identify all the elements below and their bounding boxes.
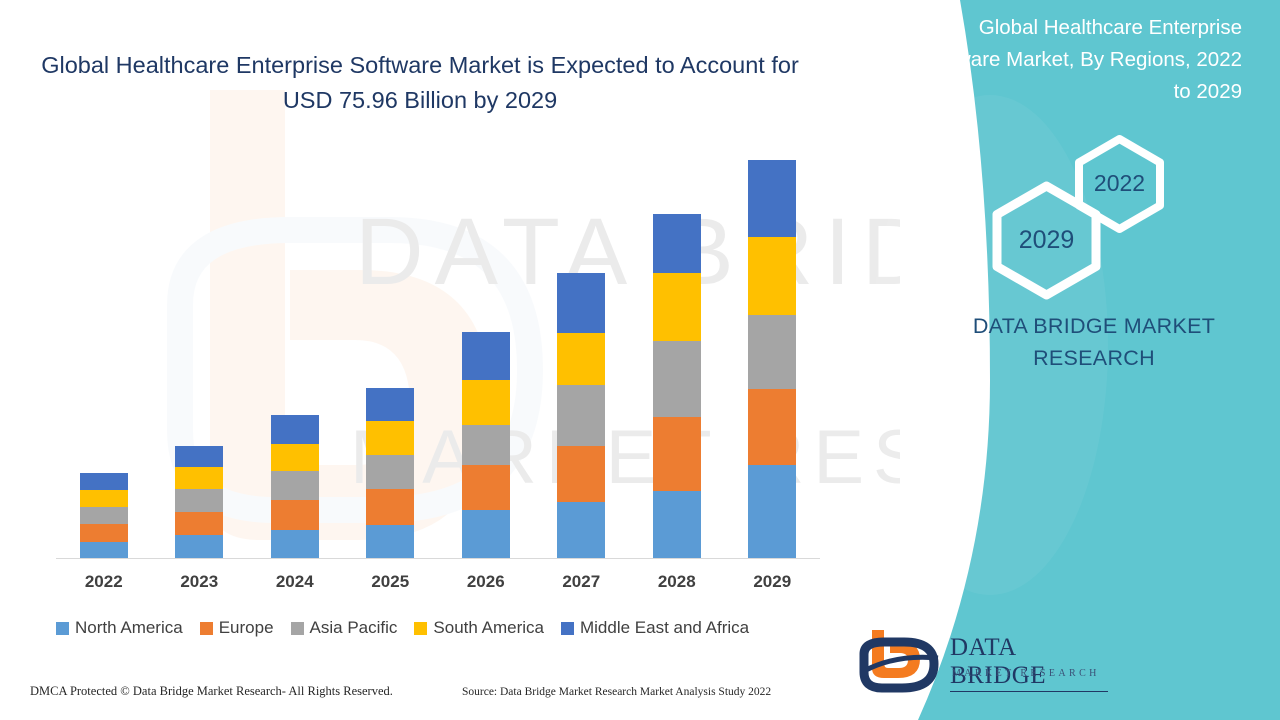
x-axis-labels: 20222023202420252026202720282029: [56, 572, 820, 602]
bar-segment: [557, 446, 605, 503]
hexagon-badge-2022: 2022: [1068, 132, 1171, 240]
bar-segment: [271, 471, 319, 500]
bar-segment: [462, 425, 510, 465]
x-axis-label-2026: 2026: [438, 572, 534, 592]
bar-segment: [175, 512, 223, 536]
teal-panel-content: Global Healthcare Enterprise Software Ma…: [840, 0, 1280, 720]
source-note: Source: Data Bridge Market Research Mark…: [462, 686, 771, 698]
bar-segment: [366, 388, 414, 422]
bar-segment: [271, 530, 319, 559]
legend-item: Middle East and Africa: [561, 618, 749, 638]
legend-swatch-icon: [291, 622, 304, 635]
hexagon-2022-label: 2022: [1068, 170, 1171, 197]
legend-swatch-icon: [56, 622, 69, 635]
bar-segment: [462, 332, 510, 380]
legend-swatch-icon: [414, 622, 427, 635]
bar-segment: [366, 421, 414, 454]
bar-column-2024: [271, 415, 319, 559]
legend-swatch-icon: [561, 622, 574, 635]
x-axis-label-2028: 2028: [629, 572, 725, 592]
legend-swatch-icon: [200, 622, 213, 635]
bar-segment: [271, 415, 319, 444]
bar-segment: [80, 473, 128, 489]
dmca-notice: DMCA Protected © Data Bridge Market Rese…: [30, 684, 393, 699]
bar-segment: [653, 417, 701, 491]
legend-item: Asia Pacific: [291, 618, 398, 638]
plot-area: [56, 160, 820, 559]
x-axis-label-2022: 2022: [56, 572, 152, 592]
bar-segment: [557, 502, 605, 559]
x-axis-label-2023: 2023: [151, 572, 247, 592]
company-logo: DATA BRIDGE MARKET RESEARCH: [858, 628, 1108, 700]
bar-segment: [557, 333, 605, 384]
bar-column-2027: [557, 273, 605, 559]
bar-segment: [748, 237, 796, 315]
bar-segment: [653, 341, 701, 417]
bar-segment: [80, 542, 128, 559]
bar-segment: [557, 385, 605, 446]
bar-segment: [80, 524, 128, 541]
x-axis-label-2027: 2027: [533, 572, 629, 592]
bar-segment: [175, 467, 223, 490]
data-bridge-logo-icon: [858, 628, 944, 694]
bar-segment: [748, 315, 796, 389]
logo-text-main: DATA BRIDGE: [950, 634, 1108, 692]
legend-item: South America: [414, 618, 544, 638]
brand-name: DATA BRIDGE MARKET RESEARCH: [936, 310, 1252, 374]
bar-column-2025: [366, 388, 414, 559]
bar-column-2029: [748, 160, 796, 559]
bar-segment: [271, 500, 319, 530]
bar-segment: [462, 380, 510, 425]
panel-title: Global Healthcare Enterprise Software Ma…: [912, 12, 1242, 108]
bar-segment: [462, 510, 510, 559]
bar-segment: [366, 455, 414, 489]
bar-segment: [653, 491, 701, 559]
bar-segment: [271, 444, 319, 472]
bar-segment: [557, 273, 605, 333]
bar-segment: [653, 214, 701, 273]
bar-segment: [748, 389, 796, 465]
bar-segment: [748, 160, 796, 237]
bar-segment: [80, 490, 128, 507]
legend-item: North America: [56, 618, 183, 638]
legend-label: Asia Pacific: [310, 618, 398, 638]
x-axis-label-2029: 2029: [724, 572, 820, 592]
x-axis-label-2025: 2025: [342, 572, 438, 592]
page-title: Global Healthcare Enterprise Software Ma…: [40, 48, 800, 118]
bar-segment: [175, 446, 223, 467]
x-axis-line: [56, 558, 820, 559]
legend-item: Europe: [200, 618, 274, 638]
bar-segment: [366, 489, 414, 525]
bar-segment: [175, 489, 223, 512]
chart-legend: North AmericaEuropeAsia PacificSouth Ame…: [56, 616, 836, 640]
bar-column-2026: [462, 332, 510, 559]
bar-segment: [366, 525, 414, 559]
bar-segment: [748, 465, 796, 559]
bar-column-2028: [653, 214, 701, 559]
bar-segment: [653, 273, 701, 341]
x-axis-label-2024: 2024: [247, 572, 343, 592]
legend-label: South America: [433, 618, 544, 638]
bar-segment: [80, 507, 128, 524]
chart-panel: DATA BRIDGE MARKET RESEARCH Global Healt…: [0, 0, 900, 720]
bar-column-2023: [175, 446, 223, 559]
bar-segment: [175, 535, 223, 559]
bar-segment: [462, 465, 510, 510]
legend-label: Europe: [219, 618, 274, 638]
bar-column-2022: [80, 473, 128, 559]
legend-label: North America: [75, 618, 183, 638]
legend-label: Middle East and Africa: [580, 618, 749, 638]
logo-text-sub: MARKET RESEARCH: [952, 668, 1100, 679]
